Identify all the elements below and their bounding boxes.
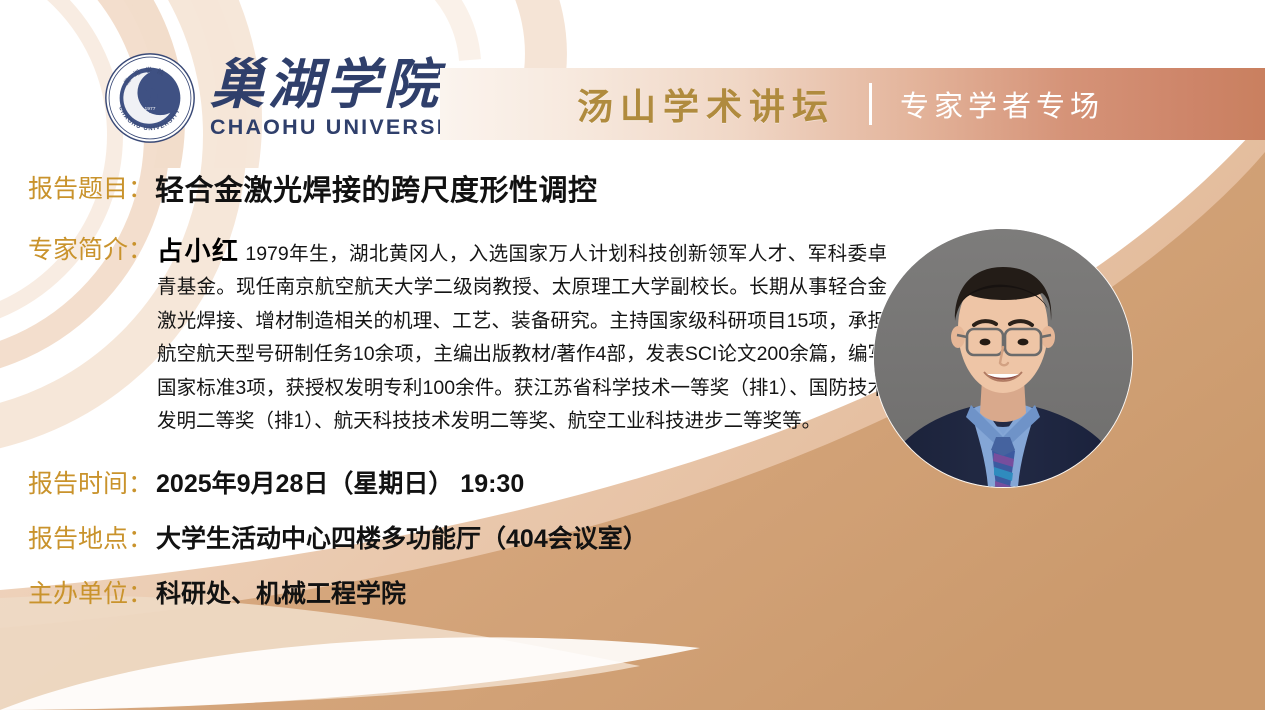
bio-description: 1979年生，湖北黄冈人，入选国家万人计划科技创新领军人才、军科委卓青基金。现任… xyxy=(157,243,887,433)
series-banner: 汤山学术讲坛 专家学者专场 xyxy=(440,68,1265,140)
place-label: 报告地点： xyxy=(28,524,153,555)
host-label: 主办单位： xyxy=(28,579,153,610)
banner-separator xyxy=(869,83,872,125)
university-name-block: 巢湖学院 CHAOHU UNIVERSITY xyxy=(210,58,477,139)
svg-text:1977: 1977 xyxy=(144,106,155,112)
bio-label: 专家简介： xyxy=(28,235,153,266)
topic-label: 报告题目： xyxy=(28,174,153,205)
speaker-portrait xyxy=(874,229,1132,487)
bio-text-block: 占小红1979年生，湖北黄冈人，入选国家万人计划科技创新领军人才、军科委卓青基金… xyxy=(157,235,887,439)
host-row: 主办单位： 科研处、机械工程学院 xyxy=(0,579,1265,610)
university-logo: 1977 巢 湖 学 院 CHAOHU UNIVERSITY 巢湖学院 CHAO… xyxy=(104,52,477,144)
banner-subtitle: 专家学者专场 xyxy=(900,83,1104,125)
place-value: 大学生活动中心四楼多功能厅（404会议室） xyxy=(156,524,648,555)
banner-main-title: 汤山学术讲坛 xyxy=(577,78,835,130)
speaker-name: 占小红 xyxy=(157,236,239,266)
time-label: 报告时间： xyxy=(28,469,153,500)
university-name-cn: 巢湖学院 xyxy=(210,58,477,112)
university-name-en: CHAOHU UNIVERSITY xyxy=(210,117,477,139)
topic-row: 报告题目： 轻合金激光焊接的跨尺度形性调控 xyxy=(0,174,1265,209)
host-value: 科研处、机械工程学院 xyxy=(156,579,406,610)
time-row: 报告时间： 2025年9月28日（星期日） 19:30 xyxy=(0,469,1265,500)
place-row: 报告地点： 大学生活动中心四楼多功能厅（404会议室） xyxy=(0,524,1265,555)
swoosh-bottom-white-cut xyxy=(0,637,700,710)
lecture-poster: 1977 巢 湖 学 院 CHAOHU UNIVERSITY 巢湖学院 CHAO… xyxy=(0,0,1265,710)
swoosh-bottom-left-light xyxy=(0,596,640,710)
poster-header: 1977 巢 湖 学 院 CHAOHU UNIVERSITY 巢湖学院 CHAO… xyxy=(0,0,1265,168)
topic-value: 轻合金激光焊接的跨尺度形性调控 xyxy=(155,174,598,209)
speaker-portrait-image xyxy=(874,229,1132,487)
chaohu-university-seal-icon: 1977 巢 湖 学 院 CHAOHU UNIVERSITY xyxy=(104,52,196,144)
time-value: 2025年9月28日（星期日） 19:30 xyxy=(156,469,524,500)
